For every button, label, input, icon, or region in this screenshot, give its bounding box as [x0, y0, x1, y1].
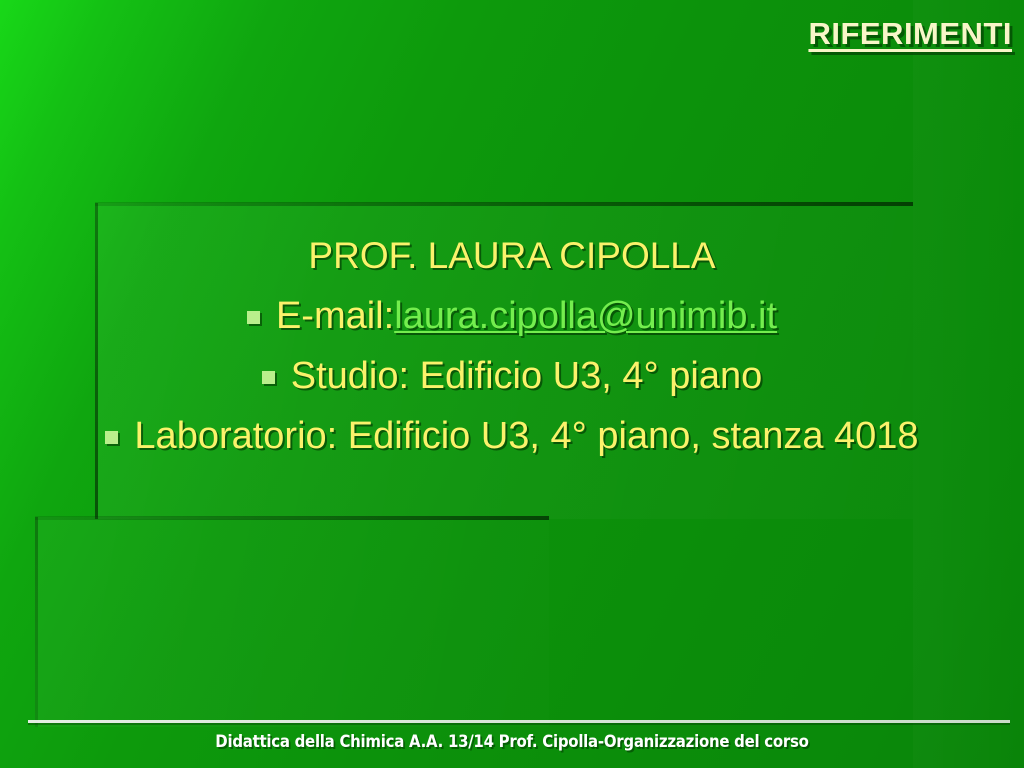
decorative-lower-panel-top-edge	[35, 516, 549, 520]
bullet-square-icon	[262, 371, 275, 384]
slide-title: RIFERIMENTI	[808, 16, 1012, 52]
footer-caption: Didattica della Chimica A.A. 13/14 Prof.…	[61, 732, 962, 752]
line-laboratorio: Laboratorio: Edificio U3, 4° piano, stan…	[0, 406, 1024, 466]
slide-body: PROF. LAURA CIPOLLA E-mail: laura.cipoll…	[0, 226, 1024, 466]
decorative-upper-panel-top-edge	[95, 202, 913, 206]
studio-text: Studio: Edificio U3, 4° piano	[291, 346, 762, 406]
email-label: E-mail:	[276, 286, 394, 346]
decorative-lower-panel	[35, 517, 549, 727]
bullet-square-icon	[105, 431, 118, 444]
line-email: E-mail: laura.cipolla@unimib.it	[0, 286, 1024, 346]
line-studio: Studio: Edificio U3, 4° piano	[0, 346, 1024, 406]
decorative-lower-panel-left-edge	[35, 517, 38, 727]
laboratorio-text: Laboratorio: Edificio U3, 4° piano, stan…	[134, 406, 918, 466]
email-link[interactable]: laura.cipolla@unimib.it	[394, 286, 777, 346]
line-professor: PROF. LAURA CIPOLLA	[0, 226, 1024, 286]
slide-canvas: RIFERIMENTI PROF. LAURA CIPOLLA E-mail: …	[0, 0, 1024, 768]
footer-divider	[28, 720, 1010, 723]
bullet-square-icon	[247, 311, 260, 324]
professor-name: PROF. LAURA CIPOLLA	[308, 226, 715, 286]
